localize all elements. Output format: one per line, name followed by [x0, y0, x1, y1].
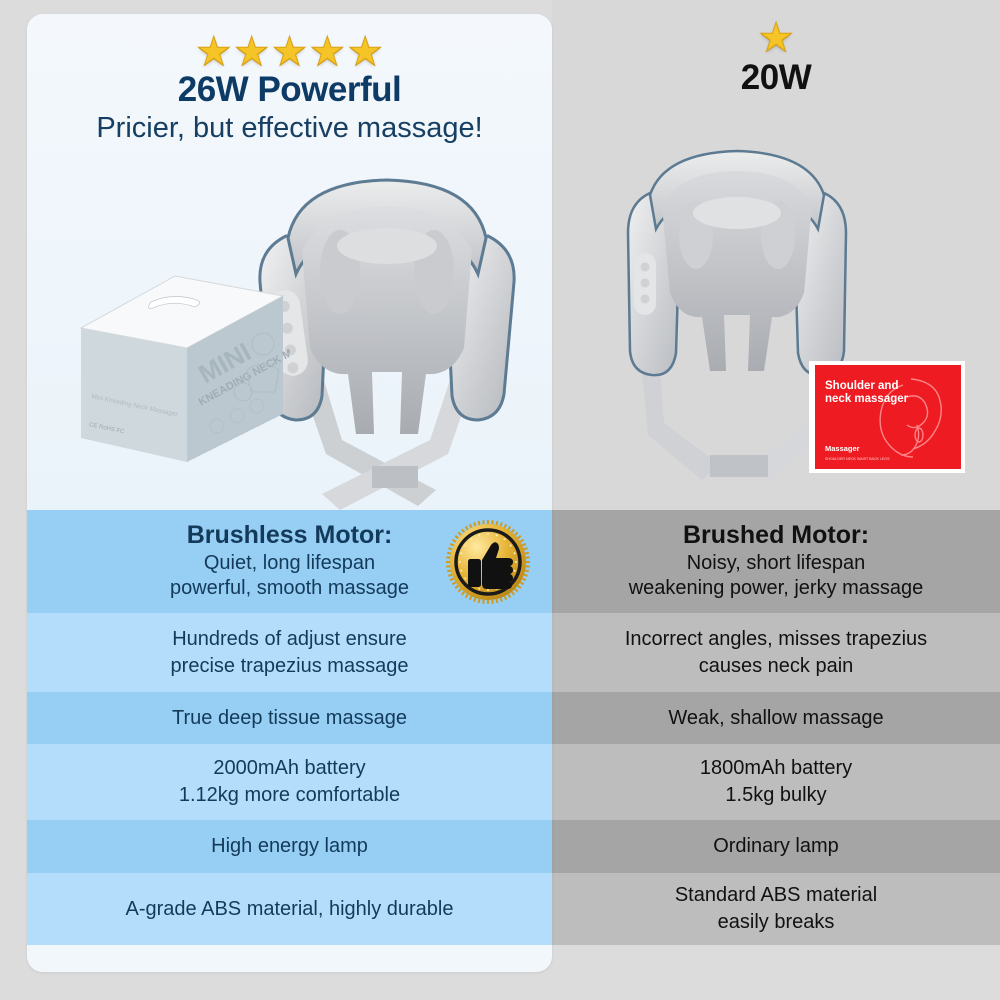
comparison-row: True deep tissue massage	[27, 692, 552, 744]
comparison-row-line: 1.5kg bulky	[725, 782, 826, 809]
comparison-row-title: Brushless Motor:	[187, 521, 393, 551]
comparison-row-line: High energy lamp	[211, 833, 368, 860]
thumbs-up-icon	[446, 520, 530, 604]
comparison-row-content: Ordinary lamp	[713, 833, 839, 860]
comparison-row-line: Standard ABS material	[675, 882, 877, 909]
comparison-row-line: Quiet, long lifespan	[204, 551, 375, 577]
comparison-row-content: Hundreds of adjust ensureprecise trapezi…	[171, 626, 409, 680]
comparison-row-line: weakening power, jerky massage	[629, 576, 924, 602]
left-product-card: ★★★★★ 26W Powerful Pricier, but effectiv…	[27, 14, 552, 972]
comparison-row: Incorrect angles, misses trapeziuscauses…	[552, 613, 1000, 692]
comparison-row-line: precise trapezius massage	[171, 653, 409, 680]
comparison-row-line: Weak, shallow massage	[668, 705, 883, 732]
star-icon: ★	[234, 32, 270, 72]
right-star-rating: ★	[552, 0, 1000, 46]
star-icon: ★	[347, 32, 383, 72]
comparison-row-line: causes neck pain	[699, 653, 854, 680]
comparison-row-line: 2000mAh battery	[213, 755, 365, 782]
right-title: 20W	[552, 58, 1000, 98]
comparison-row: Hundreds of adjust ensureprecise trapezi…	[27, 613, 552, 692]
left-hero: ★★★★★ 26W Powerful Pricier, but effectiv…	[27, 14, 552, 510]
comparison-row: 1800mAh battery1.5kg bulky	[552, 744, 1000, 820]
comparison-row-content: True deep tissue massage	[172, 705, 407, 732]
left-product-box-image: MINI KNEADING NECK MASSAGER Mini Kneadin…	[75, 266, 290, 466]
comparison-row: Weak, shallow massage	[552, 692, 1000, 744]
star-icon: ★	[272, 32, 308, 72]
star-icon: ★	[196, 32, 232, 72]
comparison-row: Brushed Motor:Noisy, short lifespanweake…	[552, 510, 1000, 613]
comparison-row-content: Brushed Motor:Noisy, short lifespanweake…	[629, 521, 924, 602]
left-title: 26W Powerful	[27, 70, 552, 110]
left-star-rating: ★★★★★	[27, 14, 552, 60]
comparison-row-line: powerful, smooth massage	[170, 576, 409, 602]
comparison-row: Brushless Motor:Quiet, long lifespanpowe…	[27, 510, 552, 613]
comparison-row: 2000mAh battery1.12kg more comfortable	[27, 744, 552, 820]
comparison-row-content: A-grade ABS material, highly durable	[126, 896, 454, 923]
comparison-row: Standard ABS materialeasily breaks	[552, 873, 1000, 945]
comparison-row-content: Incorrect angles, misses trapeziuscauses…	[625, 626, 927, 680]
card-footer-strip	[27, 945, 552, 972]
left-comparison-rows: Brushless Motor:Quiet, long lifespanpowe…	[27, 510, 552, 945]
comparison-row-content: Weak, shallow massage	[668, 705, 883, 732]
comparison-row-line: 1.12kg more comfortable	[179, 782, 400, 809]
right-product-column: ★ 20W	[552, 0, 1000, 945]
comparison-row: High energy lamp	[27, 820, 552, 873]
right-box-headline-line2: neck massager	[825, 393, 909, 405]
comparison-row-line: A-grade ABS material, highly durable	[126, 896, 454, 923]
comparison-row: Ordinary lamp	[552, 820, 1000, 873]
comparison-row-content: 1800mAh battery1.5kg bulky	[700, 755, 852, 809]
right-box-footer-label: Massager	[825, 444, 860, 453]
right-box-headline-line1: Shoulder and	[825, 380, 898, 392]
comparison-row-content: Brushless Motor:Quiet, long lifespanpowe…	[170, 521, 409, 602]
comparison-row-title: Brushed Motor:	[683, 521, 869, 551]
comparison-row-line: 1800mAh battery	[700, 755, 852, 782]
comparison-row-content: 2000mAh battery1.12kg more comfortable	[179, 755, 400, 809]
right-box-footer-small: SHOULDER NECK WAIST BACK LEGS	[825, 457, 890, 461]
comparison-row-line: True deep tissue massage	[172, 705, 407, 732]
comparison-row-content: High energy lamp	[211, 833, 368, 860]
comparison-row-content: Standard ABS materialeasily breaks	[675, 882, 877, 936]
comparison-row: A-grade ABS material, highly durable	[27, 873, 552, 945]
star-icon: ★	[309, 32, 345, 72]
right-hero: ★ 20W	[552, 0, 1000, 510]
comparison-row-line: easily breaks	[718, 909, 835, 936]
right-product-box-image: Shoulder and neck massager Massager SHOU…	[807, 355, 967, 480]
comparison-infographic: ★ 20W	[0, 0, 1000, 1000]
star-icon: ★	[758, 18, 794, 58]
comparison-row-line: Hundreds of adjust ensure	[172, 626, 407, 653]
comparison-row-line: Incorrect angles, misses trapezius	[625, 626, 927, 653]
comparison-row-line: Noisy, short lifespan	[687, 551, 866, 577]
right-comparison-rows: Brushed Motor:Noisy, short lifespanweake…	[552, 510, 1000, 945]
comparison-row-line: Ordinary lamp	[713, 833, 839, 860]
left-subtitle: Pricier, but effective massage!	[27, 112, 552, 145]
